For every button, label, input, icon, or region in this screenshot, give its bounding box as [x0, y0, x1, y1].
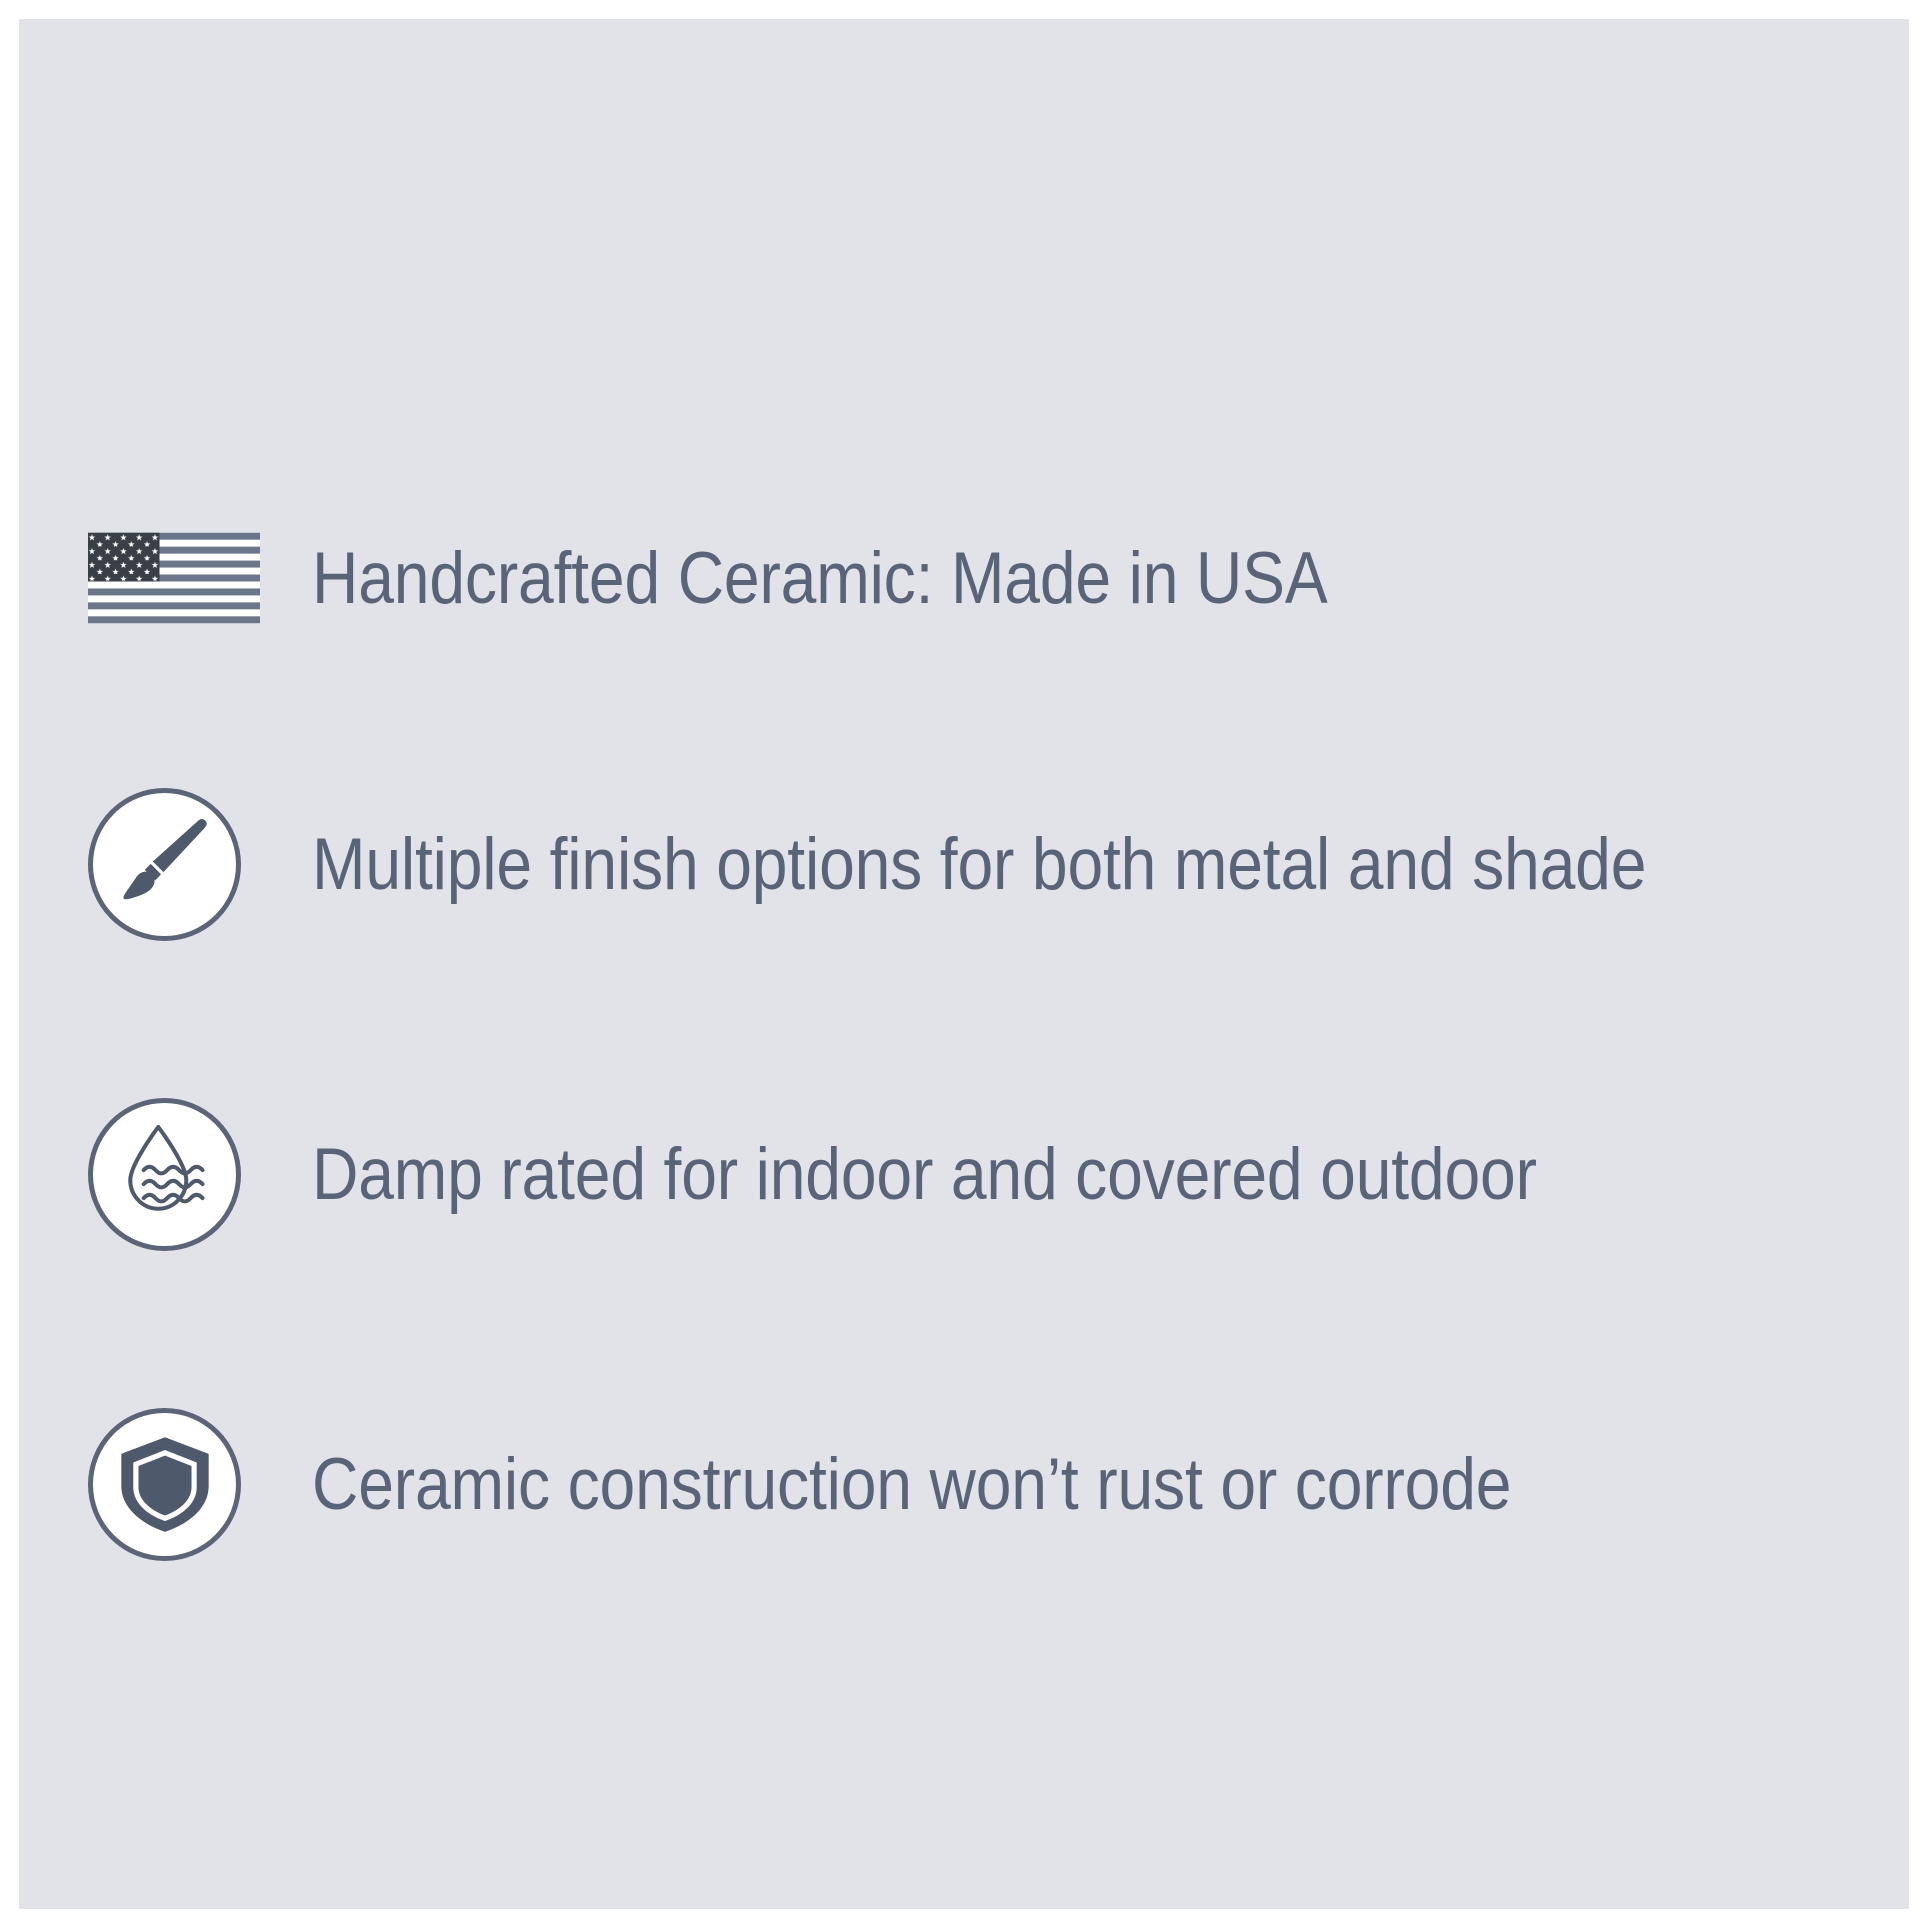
- icon-slot: [88, 1404, 263, 1564]
- feature-label: Damp rated for indoor and covered outdoo…: [312, 1138, 1537, 1211]
- usa-flag-icon: [88, 529, 260, 627]
- icon-slot: [88, 784, 263, 944]
- icon-circle: [88, 788, 241, 941]
- icon-slot: [88, 1094, 263, 1254]
- feature-panel: Handcrafted Ceramic: Made in USA: [19, 19, 1909, 1909]
- icon-circle: [88, 1098, 241, 1251]
- feature-item-made-in-usa: Handcrafted Ceramic: Made in USA: [88, 498, 1848, 658]
- icon-slot: [88, 498, 263, 658]
- feature-label: Ceramic construction won’t rust or corro…: [312, 1448, 1511, 1521]
- shield-icon: [113, 1432, 217, 1536]
- feature-list: Handcrafted Ceramic: Made in USA: [19, 19, 1909, 1909]
- feature-item-ceramic-construction: Ceramic construction won’t rust or corro…: [88, 1404, 1848, 1564]
- feature-label: Handcrafted Ceramic: Made in USA: [312, 542, 1328, 615]
- product-feature-graphic: Handcrafted Ceramic: Made in USA: [0, 0, 1928, 1928]
- water-droplet-waves-icon: [109, 1118, 221, 1230]
- feature-label: Multiple finish options for both metal a…: [312, 828, 1646, 901]
- paintbrush-icon: [110, 809, 220, 919]
- feature-item-damp-rated: Damp rated for indoor and covered outdoo…: [88, 1094, 1848, 1254]
- icon-circle: [88, 1408, 241, 1561]
- feature-item-finish-options: Multiple finish options for both metal a…: [88, 784, 1848, 944]
